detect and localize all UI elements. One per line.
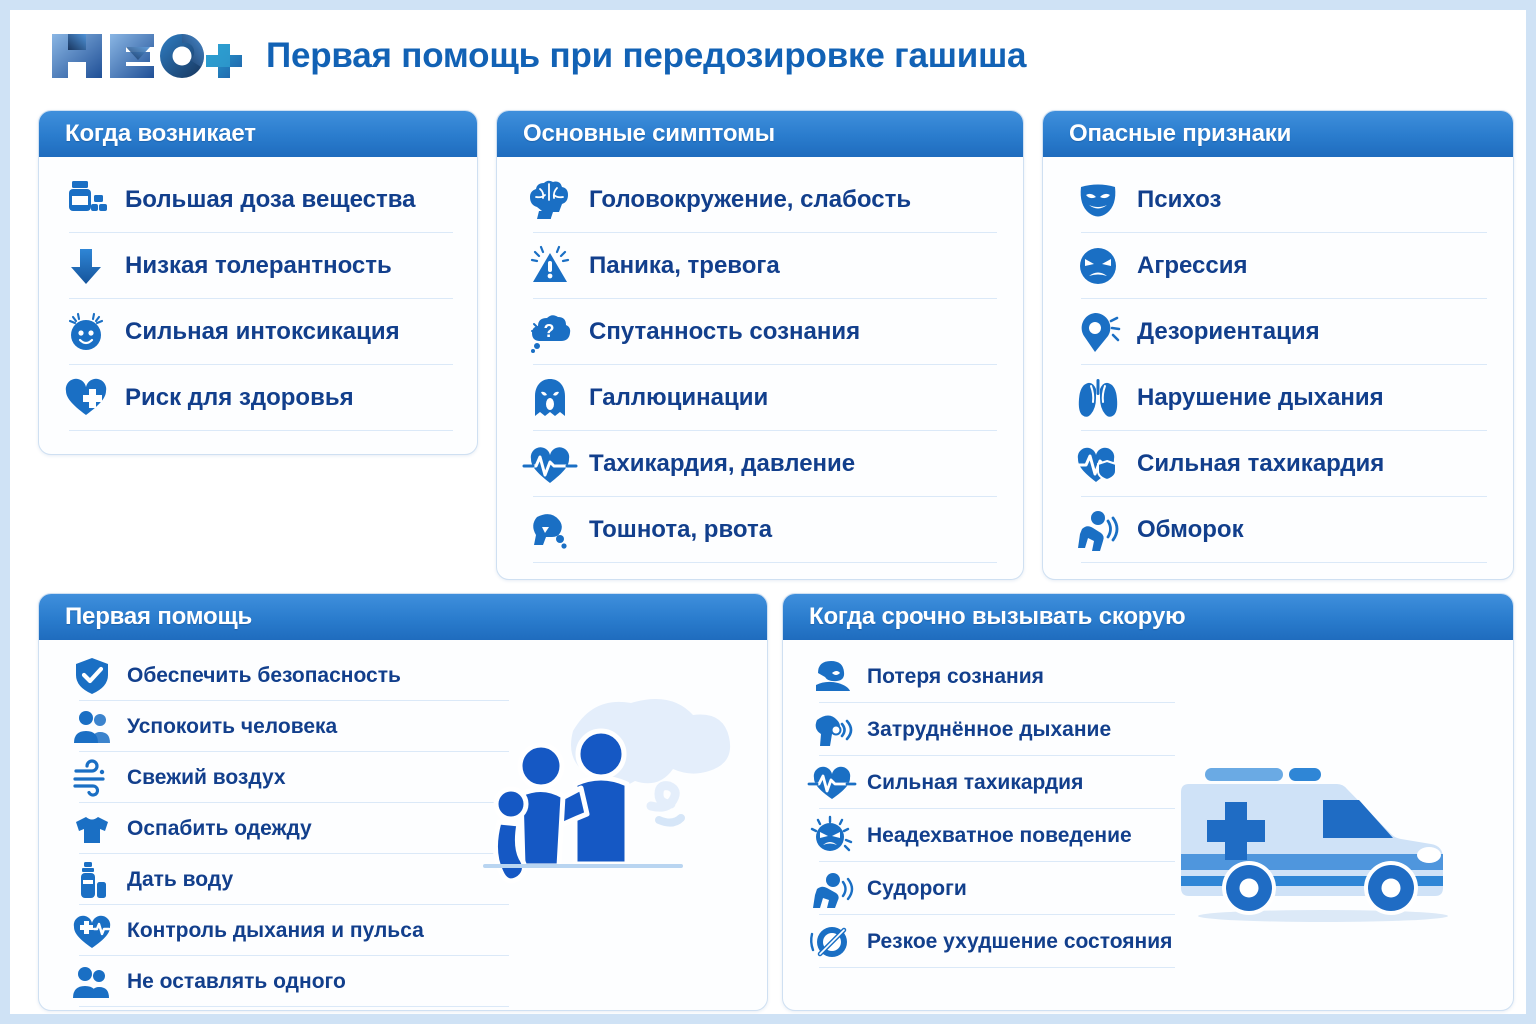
card-title: Когда возникает xyxy=(65,120,256,148)
list-item-label: Успокоить человека xyxy=(127,715,337,738)
list-item-label: Свежий воздух xyxy=(127,766,286,789)
page-title: Первая помощь при передозировке гашиша xyxy=(266,36,1026,76)
list-item[interactable]: Дезориентация xyxy=(1071,299,1491,365)
neo-plus-logo xyxy=(48,28,244,84)
card-when-it-occurs: Когда возникает Большая д xyxy=(38,110,478,455)
ambulance-illustration xyxy=(1163,750,1483,930)
card-header: Когда возникает xyxy=(39,111,477,157)
list-item[interactable]: Большая доза вещества xyxy=(59,167,457,233)
card-header: Первая помощь xyxy=(39,594,767,640)
list-item[interactable]: Не оставлять одного xyxy=(69,956,489,1007)
vomiting-head-icon xyxy=(523,507,577,553)
list-item-label: Не оставлять одного xyxy=(127,970,346,993)
list-item[interactable]: Судороги xyxy=(809,862,1179,915)
list-item-label: Головокружение, слабость xyxy=(589,187,911,213)
angry-face-icon xyxy=(1071,243,1125,289)
list-item[interactable]: Успокоить человека xyxy=(69,701,489,752)
list-item-label: Нарушение дыхания xyxy=(1137,385,1384,411)
agitated-face-icon xyxy=(809,816,855,856)
card-header: Когда срочно вызывать скорую xyxy=(783,594,1513,640)
list-item[interactable]: Свежий воздух xyxy=(69,752,489,803)
heart-cross-pulse-icon xyxy=(69,911,115,951)
list-item-label: Оспабить одежду xyxy=(127,817,312,840)
list-item[interactable]: Дать воду xyxy=(69,854,489,905)
warning-triangle-icon xyxy=(523,243,577,289)
disoriented-head-icon xyxy=(1071,309,1125,355)
list-item-label: Психоз xyxy=(1137,187,1221,213)
card-title: Основные симптомы xyxy=(523,120,775,148)
list-item-label: Тахикардия, давление xyxy=(589,451,855,477)
card-first-aid: Первая помощь Обеспечить безопасность xyxy=(38,593,768,1011)
heart-plus-icon xyxy=(59,375,113,421)
down-arrow-icon xyxy=(59,243,113,289)
list-item[interactable]: Психоз xyxy=(1071,167,1491,233)
list-item-label: Дезориентация xyxy=(1137,319,1320,345)
infographic-page: Первая помощь при передозировке гашиша К… xyxy=(10,10,1526,1014)
water-bottle-icon xyxy=(69,860,115,900)
list-item-label: Контроль дыхания и пульса xyxy=(127,919,424,942)
list-item-label: Обморок xyxy=(1137,517,1244,543)
wind-icon xyxy=(69,758,115,798)
list-item[interactable]: Низкая толерантность xyxy=(59,233,457,299)
seizure-person-icon xyxy=(809,869,855,909)
brain-head-icon xyxy=(523,177,577,223)
list-item[interactable]: Агрессия xyxy=(1071,233,1491,299)
list-item[interactable]: Оспабить одежду xyxy=(69,803,489,854)
card-body: Большая доза вещества Низкая толерантнос… xyxy=(39,157,477,441)
list-item[interactable]: Сильная тахикардия xyxy=(1071,431,1491,497)
card-danger-signs: Опасные признаки Психоз xyxy=(1042,110,1514,580)
fainting-person-icon xyxy=(1071,507,1125,553)
ghost-icon xyxy=(523,375,577,421)
unconscious-head-icon xyxy=(809,657,855,697)
heart-shield-pulse-icon xyxy=(1071,441,1125,487)
list-item[interactable]: ? Спутанность сознания xyxy=(523,299,1001,365)
tshirt-icon xyxy=(69,809,115,849)
declining-state-icon xyxy=(809,922,855,962)
list-item-label: Галлюцинации xyxy=(589,385,768,411)
list-item[interactable]: Контроль дыхания и пульса xyxy=(69,905,489,956)
list-item-label: Судороги xyxy=(867,877,967,900)
lungs-icon xyxy=(1071,375,1125,421)
card-body: Психоз Агрессия xyxy=(1043,157,1513,573)
list-item[interactable]: Сильная интоксикация xyxy=(59,299,457,365)
heart-pulse-icon xyxy=(523,441,577,487)
list-item[interactable]: Сильная тахикардия xyxy=(809,756,1179,809)
list-item-label: Потеря сознания xyxy=(867,665,1044,688)
list-item-label: Риск для здоровья xyxy=(125,385,354,411)
list-item-label: Спутанность сознания xyxy=(589,319,860,345)
list-item[interactable]: Тошнота, рвота xyxy=(523,497,1001,563)
list-item-label: Резкое ухудшение состояния xyxy=(867,930,1172,953)
card-title: Опасные признаки xyxy=(1069,120,1291,148)
two-people-icon xyxy=(69,962,115,1002)
list-item-label: Сильная тахикардия xyxy=(867,771,1083,794)
list-item[interactable]: Риск для здоровья xyxy=(59,365,457,431)
question-cloud-icon: ? xyxy=(523,309,577,355)
list-item[interactable]: Обеспечить безопасность xyxy=(69,650,489,701)
svg-text:?: ? xyxy=(544,321,555,341)
card-body: Обеспечить безопасность Успокоить челове… xyxy=(39,640,767,1011)
list-item-label: Большая доза вещества xyxy=(125,187,416,213)
list-item-label: Обеспечить безопасность xyxy=(127,664,401,687)
card-body: Головокружение, слабость Паника, тревога xyxy=(497,157,1023,573)
list-item-label: Сильная тахикардия xyxy=(1137,451,1384,477)
list-item-label: Паника, тревога xyxy=(589,253,780,279)
list-item-label: Затруднённое дыхание xyxy=(867,718,1111,741)
shield-check-icon xyxy=(69,656,115,696)
list-item-label: Низкая толерантность xyxy=(125,253,392,279)
list-item-label: Неадехватное поведение xyxy=(867,824,1132,847)
card-when-to-call-ambulance: Когда срочно вызывать скорую Потеря созн… xyxy=(782,593,1514,1011)
list-item[interactable]: Галлюцинации xyxy=(523,365,1001,431)
list-item-label: Тошнота, рвота xyxy=(589,517,772,543)
card-header: Основные симптомы xyxy=(497,111,1023,157)
list-item[interactable]: Тахикардия, давление xyxy=(523,431,1001,497)
pill-bottle-icon xyxy=(59,177,113,223)
list-item[interactable]: Обморок xyxy=(1071,497,1491,563)
list-item-label: Дать воду xyxy=(127,868,233,891)
list-item[interactable]: Неадехватное поведение xyxy=(809,809,1179,862)
list-item[interactable]: Нарушение дыхания xyxy=(1071,365,1491,431)
card-title: Первая помощь xyxy=(65,603,252,631)
list-item[interactable]: Резкое ухудшение состояния xyxy=(809,915,1179,968)
two-people-comforting-illustration xyxy=(463,676,753,926)
list-item[interactable]: Затруднённое дыхание xyxy=(809,703,1179,756)
list-item[interactable]: Потеря сознания xyxy=(809,650,1179,703)
list-item[interactable]: Паника, тревога xyxy=(523,233,1001,299)
card-main-symptoms: Основные симптомы Головокружение, слабос… xyxy=(496,110,1024,580)
dizzy-face-icon xyxy=(59,309,113,355)
card-body: Потеря сознания Затруднённое дыхание xyxy=(783,640,1513,978)
breathing-difficulty-icon xyxy=(809,710,855,750)
heart-pulse-icon xyxy=(809,763,855,803)
card-title: Когда срочно вызывать скорую xyxy=(809,603,1185,631)
two-people-icon xyxy=(69,707,115,747)
evil-mask-icon xyxy=(1071,177,1125,223)
list-item-label: Сильная интоксикация xyxy=(125,319,400,345)
card-header: Опасные признаки xyxy=(1043,111,1513,157)
list-item-label: Агрессия xyxy=(1137,253,1247,279)
list-item[interactable]: Головокружение, слабость xyxy=(523,167,1001,233)
header-bar: Первая помощь при передозировке гашиша xyxy=(10,10,1526,102)
